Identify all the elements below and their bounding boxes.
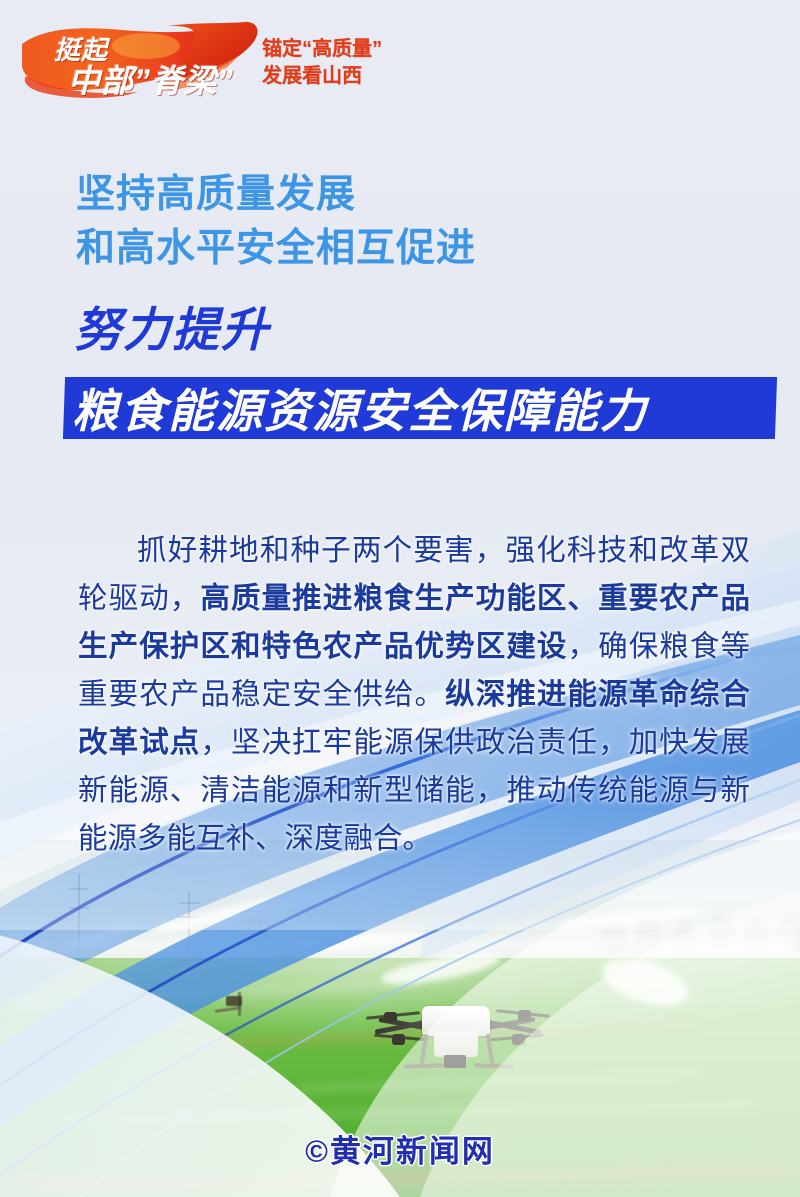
slogan-line-2: 发展看山西 xyxy=(262,63,382,90)
headline-banner: 粮食能源资源安全保障能力 xyxy=(63,377,777,439)
poster-root: 挺起 中部”脊梁” 锚定“高质量” 发展看山西 坚持高质量发展 和高水平安全相互… xyxy=(0,0,800,1197)
headline-light-line1: 坚持高质量发展 xyxy=(76,173,356,216)
logo-text-line2: 中部”脊梁” xyxy=(68,56,234,102)
watermark: ©黄河新闻网 xyxy=(0,1126,800,1171)
body-paragraph: 抓好耕地和种子两个要害，强化科技和改革双轮驱动，高质量推进粮食生产功能区、重要农… xyxy=(78,527,750,863)
campaign-slogan: 锚定“高质量” 发展看山西 xyxy=(262,36,382,90)
headline-strong: 努力提升 xyxy=(74,302,270,358)
slogan-line-1: 锚定“高质量” xyxy=(262,38,382,60)
headline-light: 坚持高质量发展 和高水平安全相互促进 xyxy=(76,168,476,276)
headline-light-line2: 和高水平安全相互促进 xyxy=(76,222,476,276)
headline-banner-text: 粮食能源资源安全保障能力 xyxy=(64,375,648,441)
